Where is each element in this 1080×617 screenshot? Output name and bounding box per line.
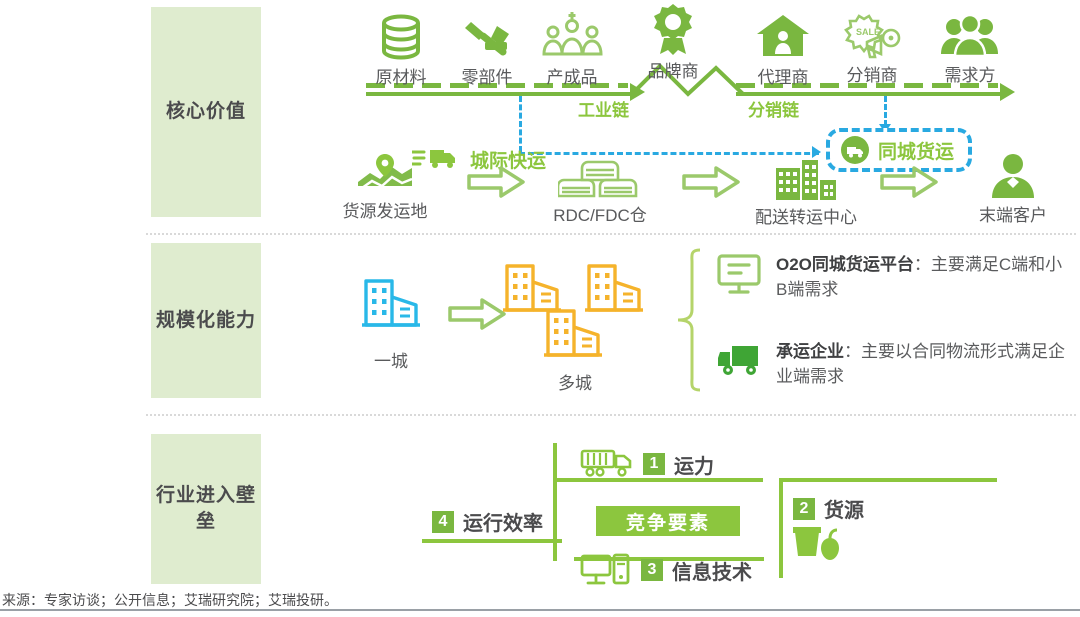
node-multi-city: 多城 — [495, 260, 655, 390]
factor-number: 1 — [643, 453, 665, 475]
connector-left-horizontal — [422, 539, 562, 543]
highlight-label: 同城货运 — [878, 137, 954, 164]
flow-arrow-2 — [682, 166, 740, 198]
factor-number: 3 — [641, 559, 663, 581]
building-orange-icon — [540, 305, 606, 361]
node-label: 末端客户 — [958, 201, 1068, 226]
connector-top-left-vertical — [553, 443, 557, 509]
truck-icon — [716, 340, 762, 380]
factor-operating-efficiency: 4 运行效率 — [432, 507, 543, 536]
node-parts: 零部件 — [444, 14, 530, 88]
connector-bottom-left-vertical — [553, 509, 557, 561]
industry-chain-label: 工业链 — [578, 96, 629, 121]
factor-label: 信息技术 — [672, 556, 752, 585]
node-label: 需求方 — [925, 61, 1015, 86]
fast-truck-icon — [412, 144, 464, 170]
factor-number: 2 — [793, 498, 815, 520]
node-label: RDC/FDC仓 — [540, 201, 660, 226]
category-panel-scale-capability: 规模化能力 — [151, 243, 261, 398]
node-label: 产成品 — [527, 63, 617, 88]
node-label: 货源发运地 — [330, 197, 440, 222]
city-building-icon — [774, 158, 838, 202]
node-label: 原材料 — [358, 63, 444, 88]
container-truck-icon — [580, 447, 634, 481]
customer-icon — [988, 150, 1038, 200]
blue-connector-horizontal — [519, 152, 819, 155]
node-label: 零部件 — [444, 63, 530, 88]
infographic-canvas: 核心价值 规模化能力 行业进入壁垒 工业链 分销链 原材料 — [0, 0, 1080, 617]
products-icon — [540, 10, 604, 62]
gear-parts-icon — [461, 14, 513, 62]
database-icon — [378, 14, 424, 62]
blue-connector-arrow-right — [812, 146, 821, 158]
factor-information-technology: 3 信息技术 — [580, 553, 752, 587]
node-label: 配送转运中心 — [746, 203, 866, 228]
monitor-icon — [716, 253, 762, 297]
medal-icon — [648, 2, 698, 56]
item-title: 承运企业 — [776, 342, 844, 361]
flow-arrow-3 — [880, 166, 938, 198]
category-panel-core-value: 核心价值 — [151, 7, 261, 217]
curly-brace — [676, 248, 702, 393]
map-pin-icon — [354, 152, 416, 196]
connector-right-vertical — [779, 478, 783, 578]
node-label: 分销商 — [827, 61, 917, 86]
node-label: 一城 — [345, 347, 437, 372]
distribution-chain-label: 分销链 — [748, 96, 799, 121]
connector-right-horizontal — [779, 478, 997, 482]
computer-icon — [580, 553, 632, 587]
factor-label: 运行效率 — [463, 507, 543, 536]
sale-megaphone-icon: SALE — [841, 12, 903, 60]
source-note: 来源：专家访谈；公开信息；艾瑞研究院；艾瑞投研。 — [0, 590, 1080, 610]
factor-label: 运力 — [674, 450, 714, 479]
category-label: 行业进入壁垒 — [151, 483, 261, 534]
node-distributor: SALE 分销商 — [827, 12, 917, 86]
factor-capacity: 1 运力 — [580, 447, 714, 481]
blue-connector-vertical-left — [519, 96, 522, 152]
node-brand: 品牌商 — [628, 2, 718, 82]
item-sep: ： — [914, 255, 931, 274]
node-rdc-fdc: RDC/FDC仓 — [540, 158, 660, 226]
factor-number: 4 — [432, 511, 454, 533]
section-divider-2 — [146, 414, 1076, 416]
list-item-o2o-platform: O2O同城货运平台：主要满足C端和小B端需求 — [716, 253, 1066, 302]
blue-connector-vertical-right — [884, 96, 887, 126]
item-sep: ： — [844, 342, 861, 361]
factor-cargo-source: 2 货源 — [793, 494, 864, 523]
competition-center-box: 竞争要素 — [596, 506, 740, 536]
warehouse-icon — [558, 158, 642, 200]
item-text: 承运企业：主要以合同物流形式满足企业端需求 — [776, 340, 1066, 389]
svg-text:SALE: SALE — [856, 27, 880, 37]
node-raw-material: 原材料 — [358, 14, 444, 88]
category-label: 核心价值 — [166, 99, 246, 125]
node-label: 多城 — [495, 369, 655, 394]
node-label: 代理商 — [738, 63, 828, 88]
node-agent: 代理商 — [738, 12, 828, 88]
flow-arrow-1 — [467, 166, 525, 198]
footer-rule — [0, 609, 1080, 611]
node-single-city: 一城 — [345, 275, 437, 372]
category-label: 规模化能力 — [156, 308, 256, 334]
item-text: O2O同城货运平台：主要满足C端和小B端需求 — [776, 253, 1066, 302]
list-item-carrier-enterprise: 承运企业：主要以合同物流形式满足企业端需求 — [716, 340, 1066, 389]
people-icon — [939, 12, 1001, 60]
store-icon — [755, 12, 811, 62]
node-end-customer: 末端客户 — [958, 150, 1068, 226]
category-panel-entry-barrier: 行业进入壁垒 — [151, 434, 261, 584]
item-title: O2O同城货运平台 — [776, 255, 914, 274]
node-transfer-center: 配送转运中心 — [746, 158, 866, 228]
goods-basket-icon — [792, 526, 844, 562]
building-blue-icon — [358, 275, 424, 331]
node-label: 品牌商 — [628, 57, 718, 82]
node-demander: 需求方 — [925, 12, 1015, 86]
section-divider-1 — [146, 233, 1076, 235]
node-finished-goods: 产成品 — [527, 10, 617, 88]
factor-label: 货源 — [824, 494, 864, 523]
